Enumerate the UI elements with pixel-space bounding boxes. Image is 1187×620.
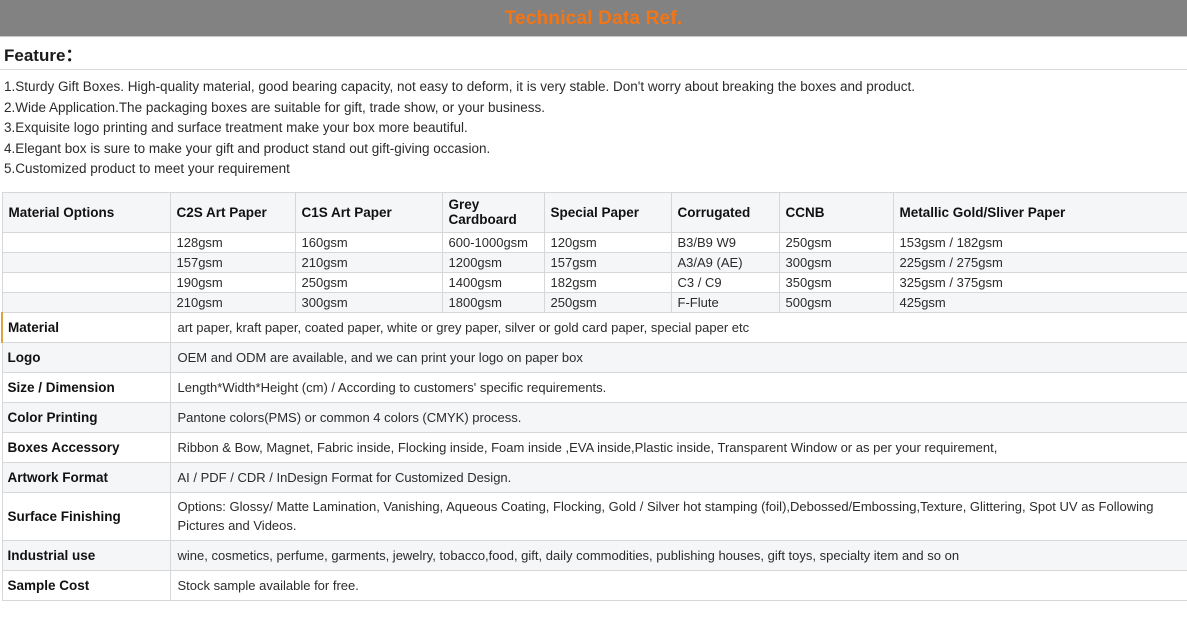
detail-label: Size / Dimension [2,372,170,402]
cell: 300gsm [779,252,893,272]
feature-item: 3.Exquisite logo printing and surface tr… [4,118,1187,139]
detail-row-logo: Logo OEM and ODM are available, and we c… [2,342,1187,372]
cell: 210gsm [295,252,442,272]
detail-value: Stock sample available for free. [170,570,1187,600]
cell: A3/A9 (AE) [671,252,779,272]
detail-row-surface-finishing: Surface Finishing Options: Glossy/ Matte… [2,492,1187,540]
column-header: C2S Art Paper [170,192,295,232]
detail-label: Artwork Format [2,462,170,492]
detail-value: Options: Glossy/ Matte Lamination, Vanis… [170,492,1187,540]
cell: 1200gsm [442,252,544,272]
detail-row-industrial-use: Industrial use wine, cosmetics, perfume,… [2,540,1187,570]
cell: 350gsm [779,272,893,292]
detail-row-size-dimension: Size / Dimension Length*Width*Height (cm… [2,372,1187,402]
column-header: CCNB [779,192,893,232]
cell: F-Flute [671,292,779,312]
table-row: 128gsm 160gsm 600-1000gsm 120gsm B3/B9 W… [2,232,1187,252]
cell: 425gsm [893,292,1187,312]
feature-heading-row: Feature： [0,37,1187,70]
cell [2,232,170,252]
column-header: Metallic Gold/Sliver Paper [893,192,1187,232]
cell: 1400gsm [442,272,544,292]
cell: 157gsm [544,252,671,272]
cell: 157gsm [170,252,295,272]
detail-row-boxes-accessory: Boxes Accessory Ribbon & Bow, Magnet, Fa… [2,432,1187,462]
technical-data-page: Technical Data Ref. Feature： 1.Sturdy Gi… [0,0,1187,620]
detail-value: Length*Width*Height (cm) / According to … [170,372,1187,402]
feature-item: 4.Elegant box is sure to make your gift … [4,139,1187,160]
cell [2,252,170,272]
cell: C3 / C9 [671,272,779,292]
cell: 225gsm / 275gsm [893,252,1187,272]
detail-label: Color Printing [2,402,170,432]
detail-label: Boxes Accessory [2,432,170,462]
cell: 325gsm / 375gsm [893,272,1187,292]
detail-label: Industrial use [2,540,170,570]
cell: 250gsm [295,272,442,292]
cell: 190gsm [170,272,295,292]
cell: B3/B9 W9 [671,232,779,252]
detail-row-material: Material art paper, kraft paper, coated … [2,312,1187,342]
cell [2,292,170,312]
feature-item: 1.Sturdy Gift Boxes. High-quality materi… [4,77,1187,98]
cell: 250gsm [779,232,893,252]
column-header: Grey Cardboard [442,192,544,232]
table-row: 190gsm 250gsm 1400gsm 182gsm C3 / C9 350… [2,272,1187,292]
cell: 300gsm [295,292,442,312]
cell: 120gsm [544,232,671,252]
column-header: Material Options [2,192,170,232]
cell: 153gsm / 182gsm [893,232,1187,252]
column-header: C1S Art Paper [295,192,442,232]
table-row: 210gsm 300gsm 1800gsm 250gsm F-Flute 500… [2,292,1187,312]
table-row: 157gsm 210gsm 1200gsm 157gsm A3/A9 (AE) … [2,252,1187,272]
detail-row-artwork-format: Artwork Format AI / PDF / CDR / InDesign… [2,462,1187,492]
detail-label: Surface Finishing [2,492,170,540]
feature-item: 5.Customized product to meet your requir… [4,159,1187,180]
detail-value: wine, cosmetics, perfume, garments, jewe… [170,540,1187,570]
cell: 128gsm [170,232,295,252]
feature-list: 1.Sturdy Gift Boxes. High-quality materi… [0,70,1187,188]
specification-table: Material Options C2S Art Paper C1S Art P… [1,192,1187,601]
cell: 500gsm [779,292,893,312]
detail-value: AI / PDF / CDR / InDesign Format for Cus… [170,462,1187,492]
page-title: Technical Data Ref. [505,9,683,28]
detail-value: Ribbon & Bow, Magnet, Fabric inside, Flo… [170,432,1187,462]
table-header-row: Material Options C2S Art Paper C1S Art P… [2,192,1187,232]
detail-value: OEM and ODM are available, and we can pr… [170,342,1187,372]
cell: 600-1000gsm [442,232,544,252]
column-header: Special Paper [544,192,671,232]
detail-row-sample-cost: Sample Cost Stock sample available for f… [2,570,1187,600]
cell: 160gsm [295,232,442,252]
feature-heading: Feature： [4,41,82,66]
cell: 210gsm [170,292,295,312]
cell: 250gsm [544,292,671,312]
cell: 182gsm [544,272,671,292]
column-header: Corrugated [671,192,779,232]
detail-value: art paper, kraft paper, coated paper, wh… [170,312,1187,342]
detail-row-color-printing: Color Printing Pantone colors(PMS) or co… [2,402,1187,432]
feature-item: 2.Wide Application.The packaging boxes a… [4,98,1187,119]
detail-label: Sample Cost [2,570,170,600]
detail-label: Material [2,312,170,342]
cell [2,272,170,292]
cell: 1800gsm [442,292,544,312]
detail-value: Pantone colors(PMS) or common 4 colors (… [170,402,1187,432]
page-title-bar: Technical Data Ref. [0,0,1187,37]
detail-label: Logo [2,342,170,372]
